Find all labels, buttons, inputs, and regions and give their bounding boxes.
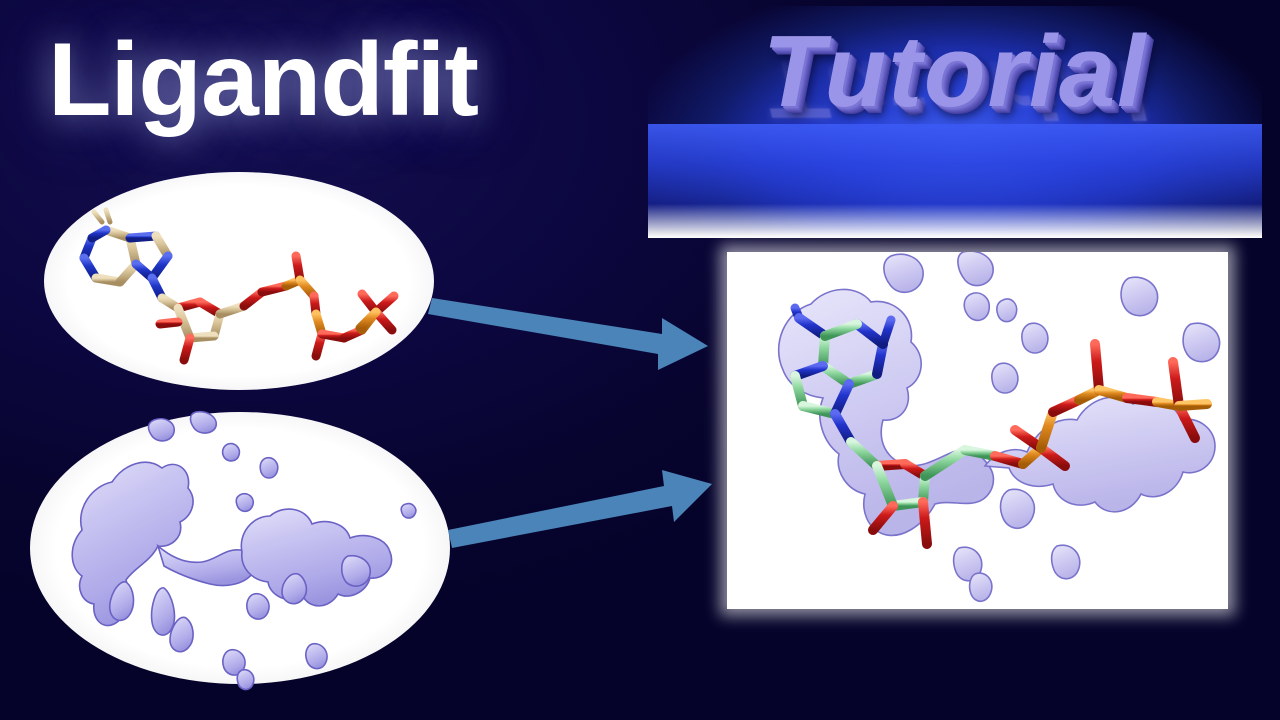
arrow-ligand-to-result bbox=[426, 284, 716, 384]
fitted-result-panel bbox=[727, 252, 1228, 609]
thumbnail-stage: Ligandfit Tutorial Tutorial bbox=[0, 0, 1280, 720]
fitted-ligand-render bbox=[727, 252, 1228, 609]
page-title: Ligandfit bbox=[48, 26, 478, 135]
tutorial-text: Tutorial bbox=[648, 22, 1262, 123]
tutorial-floor bbox=[648, 124, 1262, 238]
tutorial-banner: Tutorial Tutorial bbox=[648, 6, 1262, 238]
arrow-density-to-result bbox=[444, 456, 724, 556]
ligand-structure-render bbox=[44, 172, 434, 390]
electron-density-render bbox=[30, 412, 450, 684]
